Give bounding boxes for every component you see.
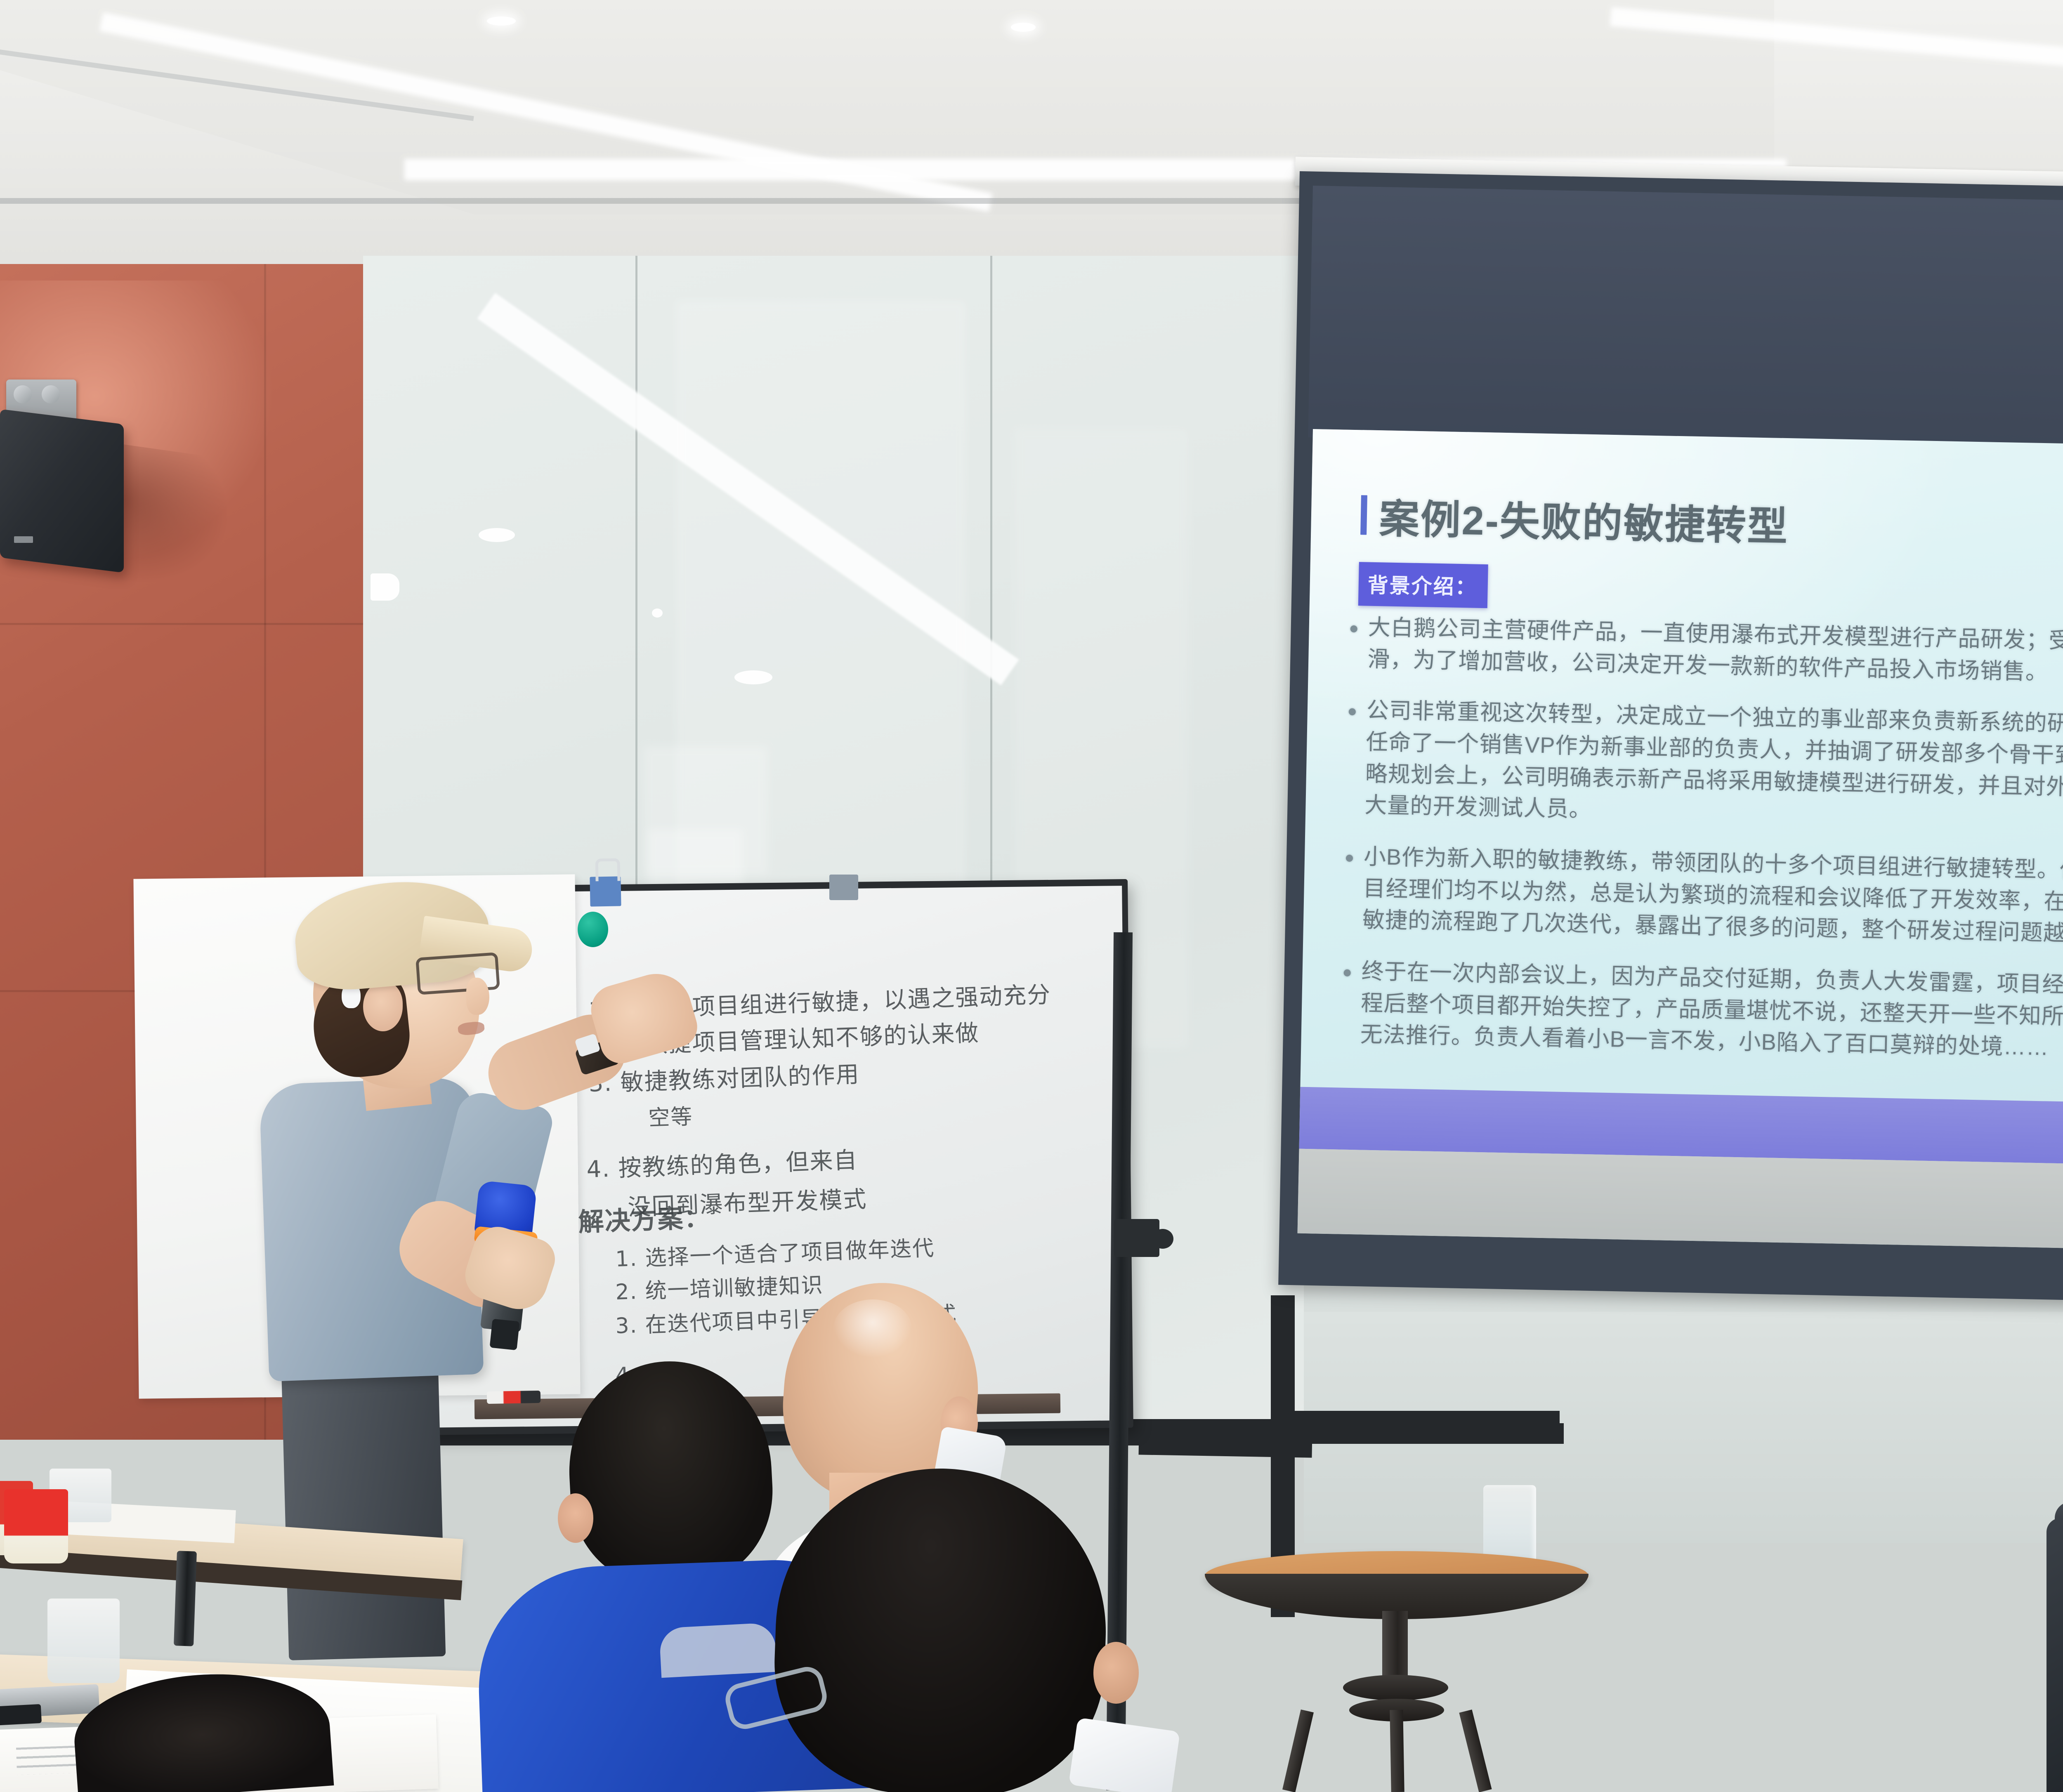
slide-title: 案例2-失败的敏捷转型 (1379, 486, 1789, 552)
phone-screen[interactable] (0, 1704, 42, 1726)
clear-plastic-cup (47, 1599, 120, 1683)
speaker-badge (14, 536, 33, 543)
attendee-ear-2 (558, 1493, 593, 1543)
slide-bullet-item: 终于在一次内部会议上，因为产品交付延期，负责人大发雷霆，项目经理们纷纷表示自从用… (1342, 955, 2063, 1070)
slide-title-group: 案例2-失败的敏捷转型 (1360, 486, 1789, 552)
microphone-tip (490, 1319, 520, 1351)
slide-bullet-text: 大白鹅公司主营硬件产品，一直使用瀑布式开发模型进行产品研发；受疫情影响公司的业绩… (1367, 612, 2063, 694)
presenter-ear (363, 982, 403, 1031)
slide-bullet-item: 大白鹅公司主营硬件产品，一直使用瀑布式开发模型进行产品研发；受疫情影响公司的业绩… (1350, 611, 2063, 694)
projected-slide: 案例2-失败的敏捷转型 背景介绍： 大白鹅公司主营硬件产品，一直使用瀑布式开发模… (1298, 429, 2063, 1254)
training-room-photo: 案例2-失败的敏捷转型 背景介绍： 大白鹅公司主营硬件产品，一直使用瀑布式开发模… (0, 0, 2063, 1792)
slide-section-badge: 背景介绍： (1358, 562, 1488, 608)
binder-clip-icon (590, 876, 621, 906)
stool-leg (1459, 1709, 1492, 1792)
binder-clip-icon-2 (829, 875, 858, 900)
stool-leg (1282, 1709, 1314, 1792)
wall-speaker (0, 409, 124, 573)
red-paper-cup-2 (4, 1489, 68, 1563)
bullet-dot-icon (1346, 855, 1353, 862)
whiteboard-height-knob[interactable] (1114, 1219, 1159, 1257)
stool-adjust-ring[interactable] (1343, 1675, 1448, 1700)
attendee-collar (659, 1622, 777, 1678)
slide-bullet-list: 大白鹅公司主营硬件产品，一直使用瀑布式开发模型进行产品研发；受疫情影响公司的业绩… (1342, 611, 2063, 1089)
solution-heading: 解决方案： (578, 1197, 711, 1238)
wall-mullion-horizontal-2 (1110, 1423, 1564, 1444)
red-marker (487, 1391, 541, 1404)
attendee-head-highlight (833, 1299, 912, 1357)
downlight-icon (487, 17, 516, 26)
bullet-dot-icon (1344, 969, 1351, 976)
magnet-icon (578, 912, 608, 947)
bullet-dot-icon (1350, 625, 1357, 632)
face-mask-icon-2 (1069, 1717, 1180, 1792)
slide-bullet-text: 公司非常重视这次转型，决定成立一个独立的事业部来负责新系统的研发及销售。经过讨论… (1364, 695, 2063, 840)
slide-bullet-item: 公司非常重视这次转型，决定成立一个独立的事业部来负责新系统的研发及销售。经过讨论… (1347, 694, 2063, 840)
attendee-ear-3 (1093, 1642, 1139, 1704)
presenter-nose (466, 978, 489, 1015)
slide-bullet-text: 终于在一次内部会议上，因为产品交付延期，负责人大发雷霆，项目经理们纷纷表示自从用… (1360, 956, 2063, 1070)
office-chair-back[interactable] (2046, 1518, 2063, 1792)
downlight-icon (1011, 23, 1036, 32)
projector-screen-masking (1308, 186, 2063, 458)
handwriting-note-line: 空等 (648, 1099, 694, 1132)
black-marker (174, 1551, 197, 1646)
stool-leg (1390, 1710, 1404, 1792)
attendee-head-foreground (770, 1463, 1111, 1792)
slide-bullet-item: 小B作为新入职的敏捷教练，带领团队的十多个项目组进行敏捷转型。但是在推行过程中，… (1344, 841, 2063, 955)
slide-bullet-text: 小B作为新入职的敏捷教练，带领团队的十多个项目组进行敏捷转型。但是在推行过程中，… (1362, 841, 2063, 955)
bullet-dot-icon (1349, 708, 1356, 715)
slide-title-accent-bar (1360, 495, 1367, 535)
